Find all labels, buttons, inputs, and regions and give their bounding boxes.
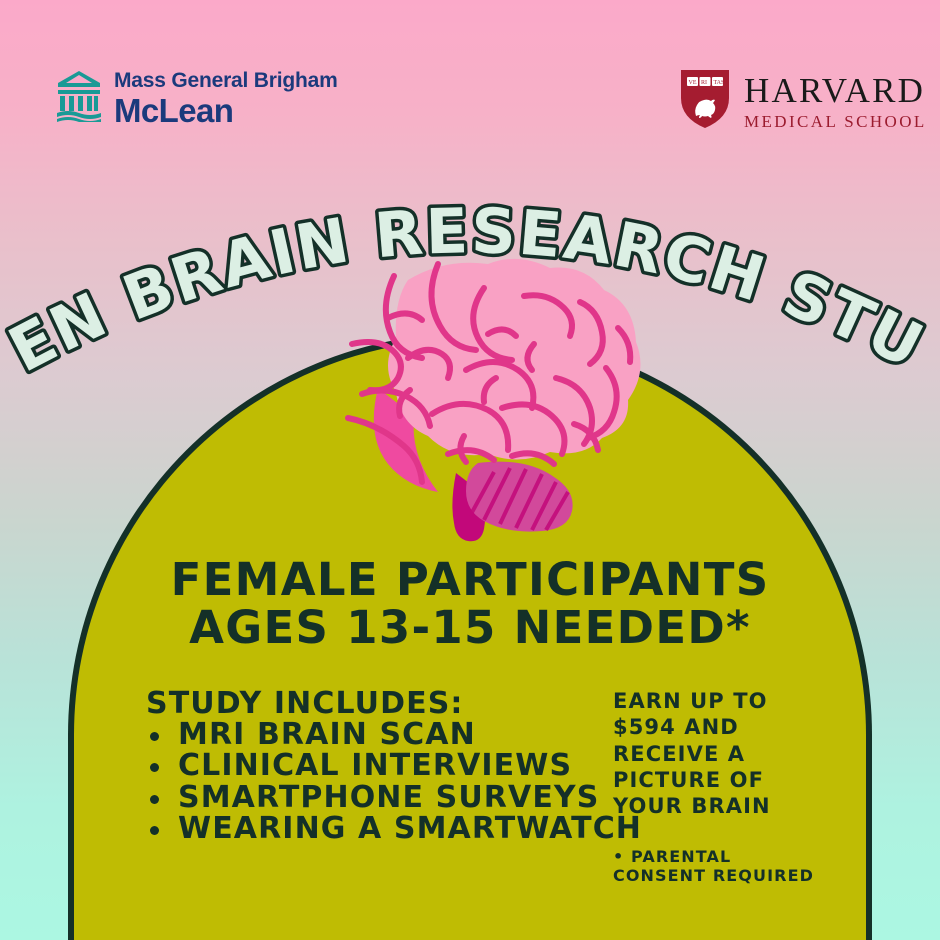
- harvard-subtitle: MEDICAL SCHOOL: [744, 113, 927, 130]
- compensation-text: EARN UP TO $594 AND RECEIVE A PICTURE OF…: [613, 688, 863, 819]
- harvard-shield-icon: VE RI TAS: [678, 68, 732, 135]
- study-includes-block: STUDY INCLUDES: MRI BRAIN SCAN CLINICAL …: [146, 688, 586, 844]
- list-item: SMARTPHONE SURVEYS: [146, 782, 586, 813]
- list-item: CLINICAL INTERVIEWS: [146, 750, 586, 781]
- headline-line1: FEMALE PARTICIPANTS: [0, 556, 940, 604]
- headline-line2: AGES 13-15 NEEDED*: [0, 604, 940, 652]
- compensation-line: YOUR BRAIN: [613, 793, 863, 819]
- mclean-logo-line2: McLean: [114, 94, 338, 127]
- list-item: WEARING A SMARTWATCH: [146, 813, 586, 844]
- footnote-text: • PARENTAL CONSENT REQUIRED: [613, 847, 863, 885]
- mass-general-brigham-mclean-logo: Mass General Brigham McLean: [56, 70, 338, 127]
- harvard-medical-school-logo: VE RI TAS HARVARD MEDICAL SCHOOL: [678, 68, 927, 135]
- study-includes-list: MRI BRAIN SCAN CLINICAL INTERVIEWS SMART…: [146, 719, 586, 844]
- compensation-line: PICTURE OF: [613, 767, 863, 793]
- building-columns-icon: [56, 70, 102, 127]
- page-title: FEMALE PARTICIPANTS AGES 13-15 NEEDED*: [0, 556, 940, 652]
- svg-text:RI: RI: [701, 80, 707, 86]
- footnote-line: • PARENTAL: [613, 847, 863, 866]
- brain-illustration: [288, 258, 663, 553]
- svg-text:TAS: TAS: [714, 80, 725, 86]
- compensation-line: EARN UP TO: [613, 688, 863, 714]
- list-item: MRI BRAIN SCAN: [146, 719, 586, 750]
- compensation-line: $594 AND: [613, 714, 863, 740]
- study-includes-heading: STUDY INCLUDES:: [146, 688, 586, 719]
- compensation-block: EARN UP TO $594 AND RECEIVE A PICTURE OF…: [613, 688, 863, 886]
- svg-text:VE: VE: [689, 80, 697, 86]
- harvard-wordmark: HARVARD: [744, 73, 927, 108]
- poster-canvas: Mass General Brigham McLean VE RI TAS: [0, 0, 940, 940]
- mclean-logo-line1: Mass General Brigham: [114, 70, 338, 91]
- compensation-line: RECEIVE A: [613, 741, 863, 767]
- footnote-line: CONSENT REQUIRED: [613, 866, 863, 885]
